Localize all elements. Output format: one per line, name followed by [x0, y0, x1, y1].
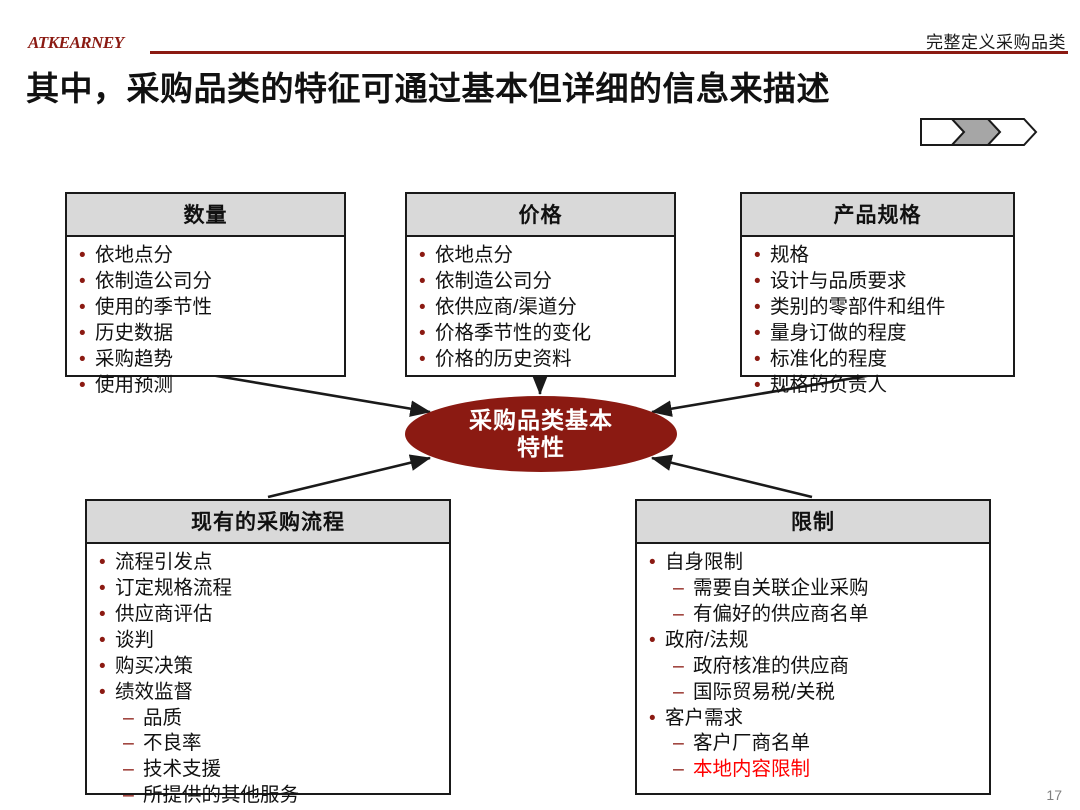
sub-list-item: 客户厂商名单 [665, 731, 981, 757]
box-constraints-body: 自身限制 需要自关联企业采购 有偏好的供应商名单 政府/法规 政府核准的供应商 … [637, 544, 989, 789]
list-item: 设计与品质要求 [752, 269, 1005, 295]
list-item-label: 依制造公司分 [95, 270, 212, 292]
sub-list-item: 有偏好的供应商名单 [665, 602, 981, 628]
box-constraints-list: 自身限制 需要自关联企业采购 有偏好的供应商名单 政府/法规 政府核准的供应商 … [647, 550, 981, 783]
list-item-label: 类别的零部件和组件 [770, 296, 946, 318]
header-section-label: 完整定义采购品类 [926, 28, 1066, 53]
arrow-constraints-to-center [652, 458, 812, 497]
list-item: 流程引发点 [97, 550, 441, 576]
list-item: 历史数据 [77, 321, 336, 347]
box-price-body: 依地点分 依制造公司分 依供应商/渠道分 价格季节性的变化 价格的历史资料 [407, 237, 674, 379]
sub-list-item: 需要自关联企业采购 [665, 576, 981, 602]
list-item: 供应商评估 [97, 602, 441, 628]
box-price[interactable]: 价格 依地点分 依制造公司分 依供应商/渠道分 价格季节性的变化 价格的历史资料 [405, 192, 676, 377]
list-item-label: 自身限制 [665, 551, 743, 573]
list-item-label: 历史数据 [95, 322, 173, 344]
box-product-spec-title: 产品规格 [742, 194, 1013, 237]
list-item-label: 购买决策 [115, 655, 193, 677]
sub-list-item: 政府核准的供应商 [665, 654, 981, 680]
center-line-2: 特性 [517, 434, 565, 460]
list-item-label: 谈判 [115, 629, 154, 651]
center-ellipse[interactable]: 采购品类基本 特性 [405, 396, 677, 472]
list-item-label: 价格的历史资料 [435, 348, 572, 370]
box-product-spec-list: 规格 设计与品质要求 类别的零部件和组件 量身订做的程度 标准化的程度 规格的负… [752, 243, 1005, 399]
sub-list-item: 国际贸易税/关税 [665, 680, 981, 706]
sub-list-item-label: 国际贸易税/关税 [693, 681, 835, 703]
sub-list: 品质 不良率 技术支援 所提供的其他服务 [115, 706, 441, 810]
sub-list-item-label: 技术支援 [143, 758, 221, 780]
list-item: 价格的历史资料 [417, 347, 666, 373]
list-item-label: 绩效监督 [115, 681, 193, 703]
list-item-label: 依供应商/渠道分 [435, 296, 577, 318]
list-item-label: 设计与品质要求 [770, 270, 907, 292]
slide-canvas: ATKEARNEY 完整定义采购品类 其中，采购品类的特征可通过基本但详细的信息… [0, 0, 1080, 810]
sub-list-item-label: 政府核准的供应商 [693, 655, 849, 677]
page-number: 17 [1046, 787, 1062, 803]
sub-list-item: 所提供的其他服务 [115, 783, 441, 809]
list-item-label: 使用的季节性 [95, 296, 212, 318]
list-item: 类别的零部件和组件 [752, 295, 1005, 321]
list-item-label: 依地点分 [95, 244, 173, 266]
list-item-label: 依地点分 [435, 244, 513, 266]
box-existing-process-list: 流程引发点 订定规格流程 供应商评估 谈判 购买决策 绩效监督 品质 不良率 技… [97, 550, 441, 809]
list-item-label: 价格季节性的变化 [435, 322, 591, 344]
list-item-label: 采购趋势 [95, 348, 173, 370]
list-item: 购买决策 [97, 654, 441, 680]
list-item: 绩效监督 品质 不良率 技术支援 所提供的其他服务 [97, 680, 441, 810]
list-item: 规格的负责人 [752, 373, 1005, 399]
center-line-1: 采购品类基本 [469, 407, 613, 433]
box-product-spec[interactable]: 产品规格 规格 设计与品质要求 类别的零部件和组件 量身订做的程度 标准化的程度… [740, 192, 1015, 377]
sub-list: 需要自关联企业采购 有偏好的供应商名单 [665, 576, 981, 628]
sub-list-item: 品质 [115, 706, 441, 732]
list-item: 依供应商/渠道分 [417, 295, 666, 321]
box-product-spec-body: 规格 设计与品质要求 类别的零部件和组件 量身订做的程度 标准化的程度 规格的负… [742, 237, 1013, 405]
list-item: 量身订做的程度 [752, 321, 1005, 347]
list-item: 政府/法规 政府核准的供应商 国际贸易税/关税 [647, 628, 981, 706]
list-item-label: 标准化的程度 [770, 348, 887, 370]
list-item-label: 客户需求 [665, 707, 743, 729]
sub-list-item-label: 需要自关联企业采购 [693, 577, 869, 599]
box-existing-process-body: 流程引发点 订定规格流程 供应商评估 谈判 购买决策 绩效监督 品质 不良率 技… [87, 544, 449, 810]
progress-chevrons[interactable] [920, 117, 1040, 147]
box-quantity-list: 依地点分 依制造公司分 使用的季节性 历史数据 采购趋势 使用预测 [77, 243, 336, 399]
list-item-label: 量身订做的程度 [770, 322, 907, 344]
box-existing-process-title: 现有的采购流程 [87, 501, 449, 544]
list-item: 依制造公司分 [417, 269, 666, 295]
sub-list-item-label: 客户厂商名单 [693, 732, 810, 754]
list-item: 客户需求 客户厂商名单 本地内容限制 [647, 706, 981, 784]
page-title: 其中，采购品类的特征可通过基本但详细的信息来描述 [26, 62, 830, 110]
list-item: 订定规格流程 [97, 576, 441, 602]
box-constraints-title: 限制 [637, 501, 989, 544]
sub-list-item-label: 有偏好的供应商名单 [693, 603, 869, 625]
list-item-label: 供应商评估 [115, 603, 213, 625]
list-item: 依制造公司分 [77, 269, 336, 295]
list-item: 价格季节性的变化 [417, 321, 666, 347]
list-item-label: 使用预测 [95, 374, 173, 396]
list-item: 依地点分 [417, 243, 666, 269]
box-quantity-title: 数量 [67, 194, 344, 237]
sub-list-item-highlighted: 本地内容限制 [665, 757, 981, 783]
list-item-label: 流程引发点 [115, 551, 213, 573]
box-constraints[interactable]: 限制 自身限制 需要自关联企业采购 有偏好的供应商名单 政府/法规 政府核准的供… [635, 499, 991, 795]
sub-list-item: 技术支援 [115, 757, 441, 783]
list-item: 标准化的程度 [752, 347, 1005, 373]
box-price-title: 价格 [407, 194, 674, 237]
box-quantity[interactable]: 数量 依地点分 依制造公司分 使用的季节性 历史数据 采购趋势 使用预测 [65, 192, 346, 377]
list-item: 自身限制 需要自关联企业采购 有偏好的供应商名单 [647, 550, 981, 628]
sub-list-item: 不良率 [115, 731, 441, 757]
list-item: 规格 [752, 243, 1005, 269]
box-existing-process[interactable]: 现有的采购流程 流程引发点 订定规格流程 供应商评估 谈判 购买决策 绩效监督 … [85, 499, 451, 795]
sub-list-item-label: 本地内容限制 [693, 758, 810, 780]
sub-list-item-label: 所提供的其他服务 [143, 784, 299, 806]
sub-list-item-label: 品质 [143, 707, 182, 729]
sub-list: 政府核准的供应商 国际贸易税/关税 [665, 654, 981, 706]
list-item-label: 依制造公司分 [435, 270, 552, 292]
center-ellipse-text: 采购品类基本 特性 [469, 407, 613, 461]
list-item-label: 规格的负责人 [770, 374, 887, 396]
atkearney-logo: ATKEARNEY [28, 33, 124, 53]
list-item: 使用预测 [77, 373, 336, 399]
arrow-process-to-center [268, 458, 430, 497]
list-item-label: 订定规格流程 [115, 577, 232, 599]
sub-list-item-label: 不良率 [143, 732, 202, 754]
list-item: 采购趋势 [77, 347, 336, 373]
list-item: 谈判 [97, 628, 441, 654]
box-price-list: 依地点分 依制造公司分 依供应商/渠道分 价格季节性的变化 价格的历史资料 [417, 243, 666, 373]
list-item: 使用的季节性 [77, 295, 336, 321]
sub-list: 客户厂商名单 本地内容限制 [665, 731, 981, 783]
box-quantity-body: 依地点分 依制造公司分 使用的季节性 历史数据 采购趋势 使用预测 [67, 237, 344, 405]
list-item-label: 规格 [770, 244, 809, 266]
list-item-label: 政府/法规 [665, 629, 748, 651]
list-item: 依地点分 [77, 243, 336, 269]
